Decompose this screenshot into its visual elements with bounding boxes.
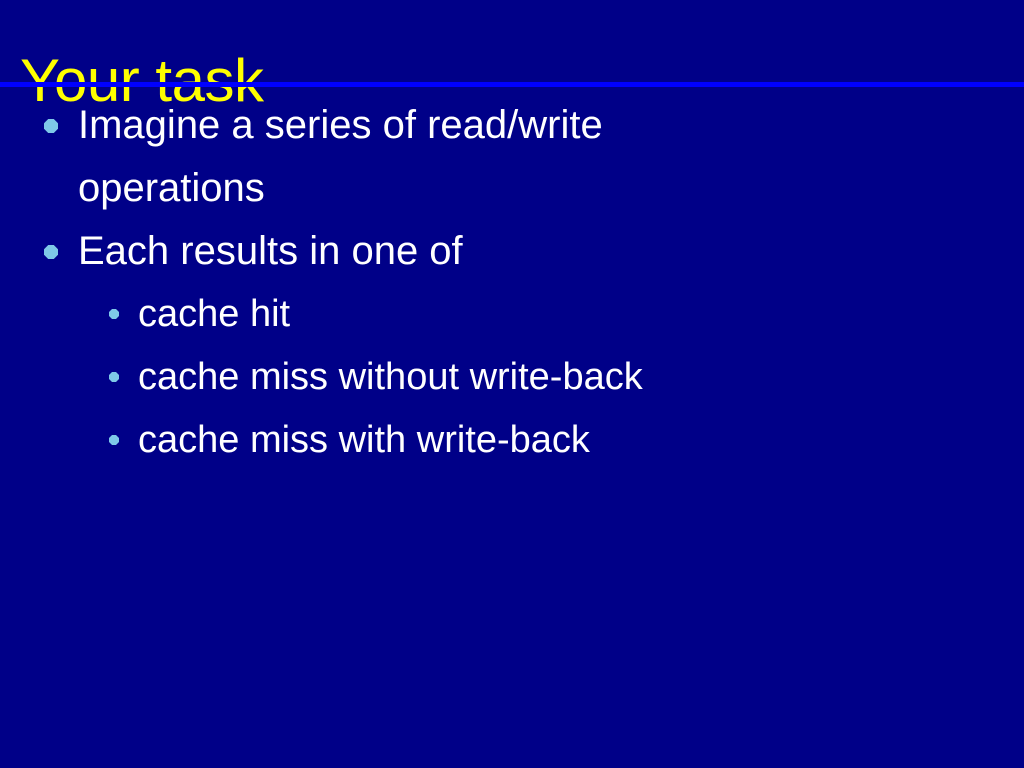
list-item-label: Each results in one of — [78, 220, 984, 283]
bullet-dot-icon — [44, 245, 58, 259]
list-item-label: cache miss with write-back — [138, 409, 984, 472]
list-item-label: cache hit — [138, 283, 984, 346]
list-item: Each results in one of — [0, 220, 1024, 283]
title-divider-rule — [0, 82, 1024, 87]
bullet-dot-icon — [44, 119, 58, 133]
bullet-dot-icon — [109, 309, 119, 319]
list-item: cache miss with write-back — [0, 409, 1024, 472]
list-item: Imagine a series of read/write operation… — [0, 94, 1024, 220]
list-item-label: cache miss without write-back — [138, 346, 984, 409]
list-item: cache miss without write-back — [0, 346, 1024, 409]
bullet-dot-icon — [109, 372, 119, 382]
bullet-dot-icon — [109, 435, 119, 445]
list-item-label: Imagine a series of read/write operation… — [78, 94, 778, 220]
list-item: cache hit — [0, 283, 1024, 346]
presentation-slide: Your task Imagine a series of read/write… — [0, 0, 1024, 768]
slide-body: Imagine a series of read/write operation… — [0, 94, 1024, 472]
